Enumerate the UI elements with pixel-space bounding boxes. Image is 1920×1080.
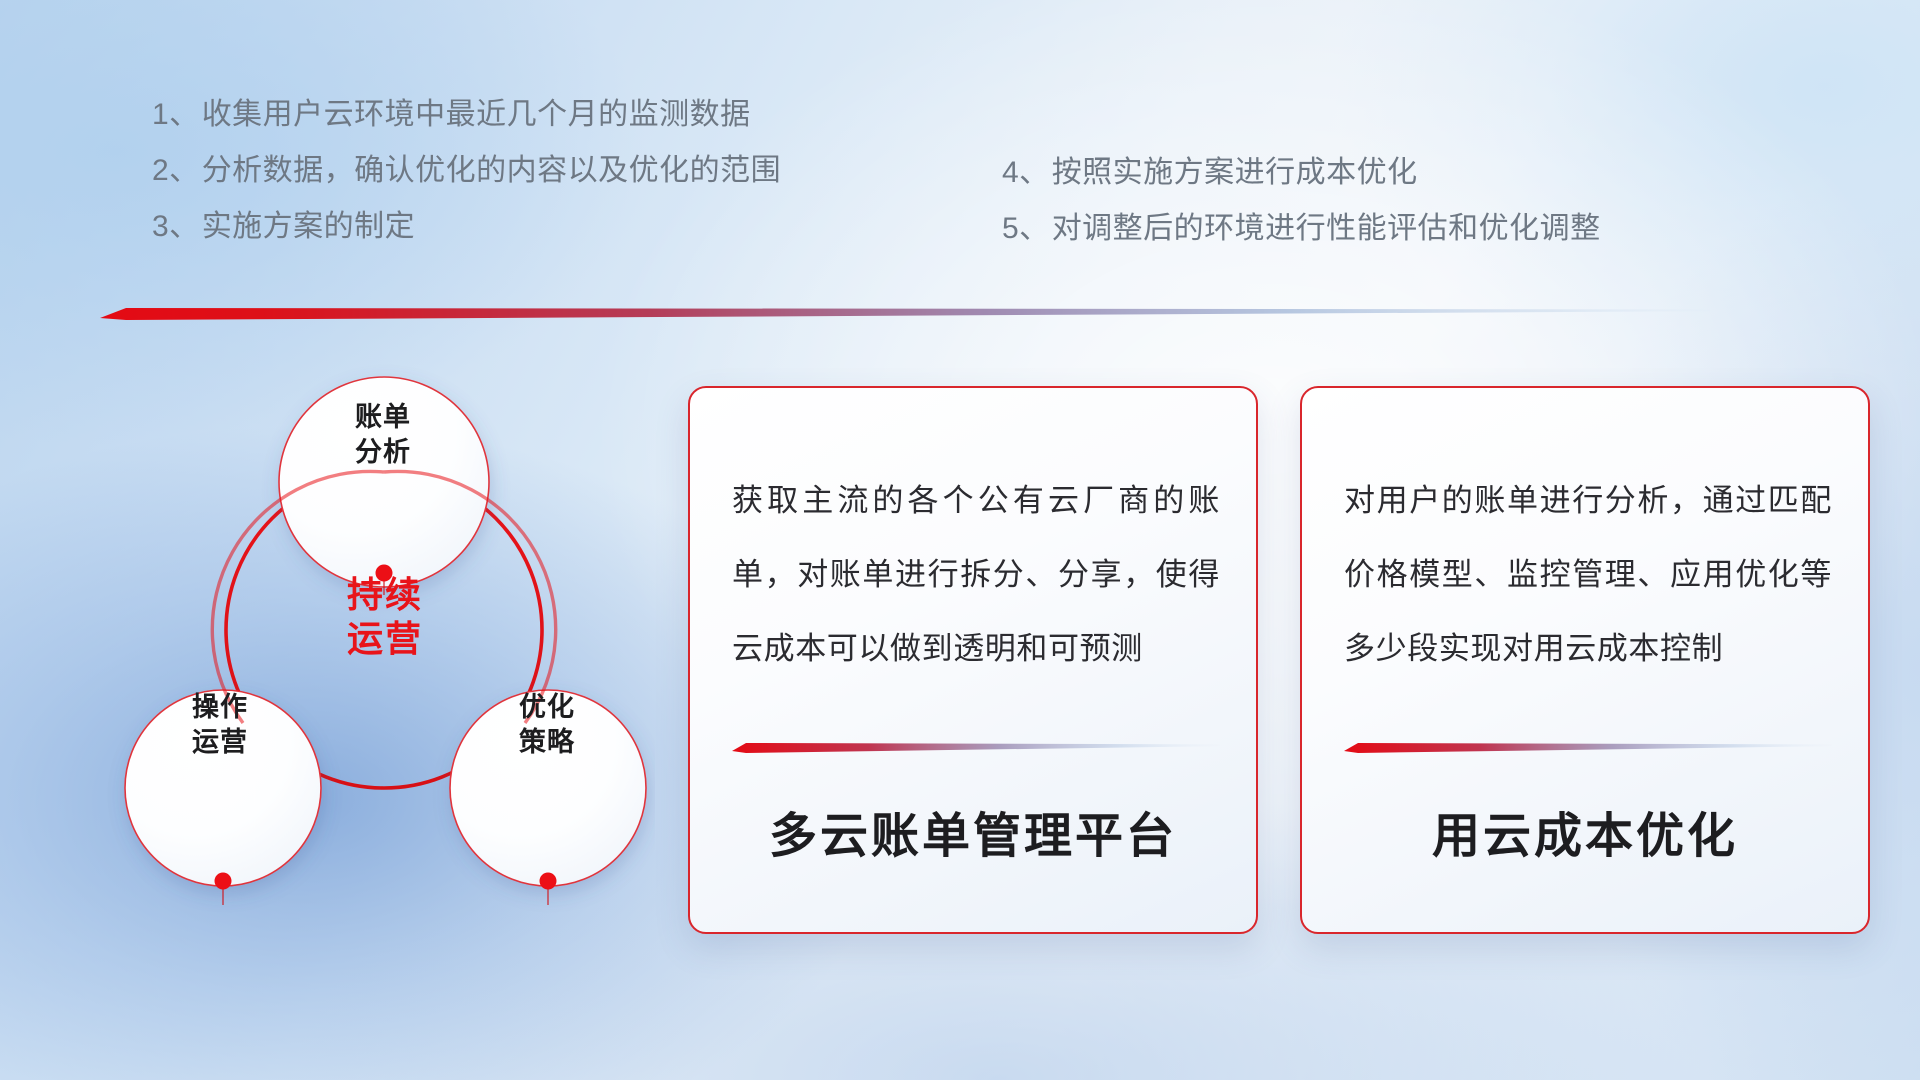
card-divider bbox=[1344, 740, 1832, 754]
card-divider bbox=[732, 740, 1220, 754]
step-number: 3、 bbox=[152, 210, 200, 243]
step-number: 1、 bbox=[152, 98, 200, 131]
node-dot-left bbox=[215, 873, 232, 890]
step-text: 按照实施方案进行成本优化 bbox=[1052, 156, 1418, 189]
bubble-label-right: 优化 策略 bbox=[467, 690, 627, 759]
step-item-4: 4、按照实施方案进行成本优化 bbox=[1002, 158, 1601, 188]
step-text: 收集用户云环境中最近几个月的监测数据 bbox=[202, 98, 751, 131]
bubble-label-left: 操作 运营 bbox=[140, 690, 300, 759]
card-multi-cloud-billing[interactable]: 获取主流的各个公有云厂商的账单，对账单进行拆分、分享，使得云成本可以做到透明和可… bbox=[688, 386, 1258, 934]
node-dot-right bbox=[540, 873, 557, 890]
step-number: 2、 bbox=[152, 154, 200, 187]
card-description: 获取主流的各个公有云厂商的账单，对账单进行拆分、分享，使得云成本可以做到透明和可… bbox=[732, 464, 1220, 685]
steps-right-column: 4、按照实施方案进行成本优化 5、对调整后的环境进行性能评估和优化调整 bbox=[1002, 158, 1601, 270]
step-number: 4、 bbox=[1002, 156, 1050, 189]
card-cloud-cost-optimization[interactable]: 对用户的账单进行分析，通过匹配价格模型、监控管理、应用优化等多少段实现对用云成本… bbox=[1300, 386, 1870, 934]
step-text: 对调整后的环境进行性能评估和优化调整 bbox=[1052, 212, 1601, 245]
step-number: 5、 bbox=[1002, 212, 1050, 245]
bubble-label-top: 账单 分析 bbox=[303, 400, 463, 469]
step-item-1: 1、收集用户云环境中最近几个月的监测数据 bbox=[152, 100, 781, 130]
card-title: 多云账单管理平台 bbox=[690, 796, 1256, 866]
step-text: 实施方案的制定 bbox=[202, 210, 416, 243]
step-text: 分析数据，确认优化的内容以及优化的范围 bbox=[202, 154, 782, 187]
step-item-5: 5、对调整后的环境进行性能评估和优化调整 bbox=[1002, 214, 1601, 244]
card-title: 用云成本优化 bbox=[1302, 796, 1868, 866]
steps-left-column: 1、收集用户云环境中最近几个月的监测数据 2、分析数据，确认优化的内容以及优化的… bbox=[152, 100, 781, 268]
center-label: 持续 运营 bbox=[285, 573, 485, 661]
section-divider bbox=[100, 300, 1710, 322]
card-description: 对用户的账单进行分析，通过匹配价格模型、监控管理、应用优化等多少段实现对用云成本… bbox=[1344, 464, 1832, 685]
step-item-3: 3、实施方案的制定 bbox=[152, 212, 781, 242]
continuous-operation-diagram: 账单 分析 操作 运营 优化 策略 持续 运营 bbox=[95, 345, 655, 955]
step-item-2: 2、分析数据，确认优化的内容以及优化的范围 bbox=[152, 156, 781, 186]
